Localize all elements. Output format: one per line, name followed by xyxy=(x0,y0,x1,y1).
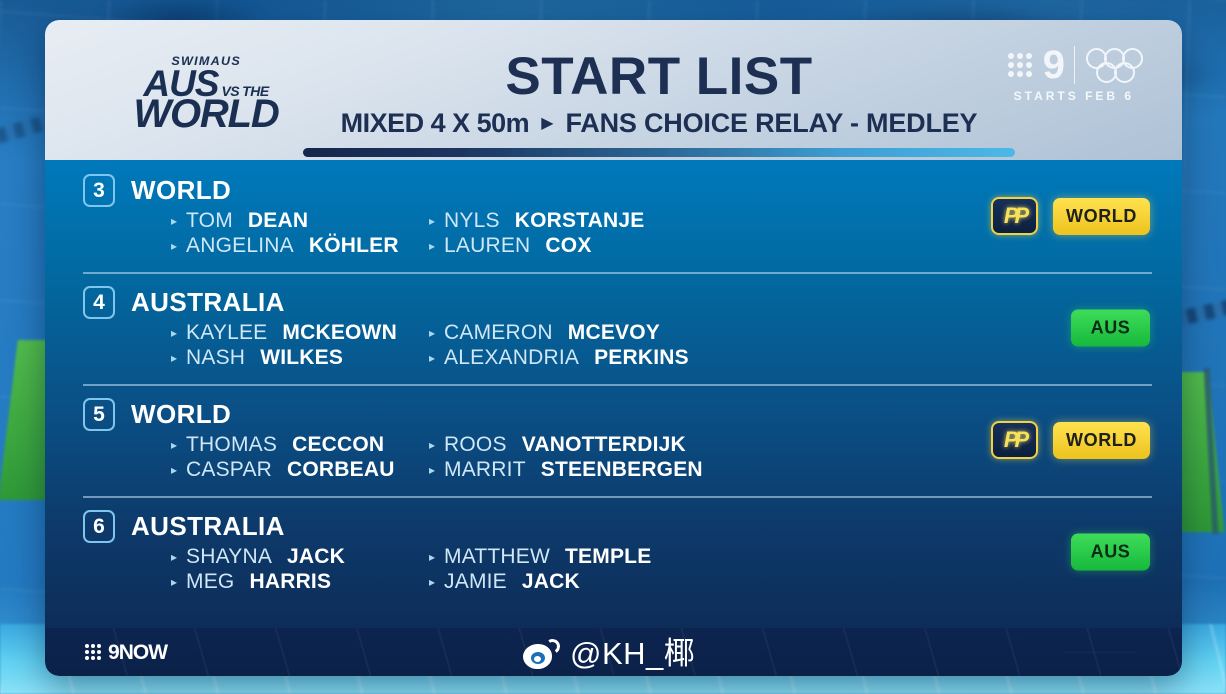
team-row-header: 6 AUSTRALIA xyxy=(83,510,1182,543)
nine-now-dots-icon xyxy=(85,644,101,660)
team-row: 4 AUSTRALIA ▸ KAYLEE MCKEOWN ▸ CAMERON M… xyxy=(45,272,1182,384)
now-text: NOW xyxy=(119,641,167,664)
athlete-grid: ▸ KAYLEE MCKEOWN ▸ CAMERON MCEVOY ▸ NASH… xyxy=(171,321,1182,370)
lane-number: 3 xyxy=(83,174,115,207)
athlete: ▸ ALEXANDRIA PERKINS xyxy=(429,346,1182,370)
athlete-last-name: STEENBERGEN xyxy=(541,458,703,482)
athlete-first-name: CASPAR xyxy=(186,458,272,482)
athlete: ▸ SHAYNA JACK xyxy=(171,545,411,569)
start-list-card: SWIMAUS AUS VS THE WORLD START LIST MIXE… xyxy=(45,20,1182,676)
brand-divider xyxy=(1074,46,1075,84)
team-flag-badge: PP xyxy=(991,421,1038,459)
athlete-first-name: ROOS xyxy=(444,433,507,457)
athlete-first-name: ANGELINA xyxy=(186,234,294,258)
bullet-arrow-icon: ▸ xyxy=(429,576,435,588)
athlete: ▸ MARRIT STEENBERGEN xyxy=(429,458,1182,482)
athlete-last-name: DEAN xyxy=(248,209,308,233)
athlete: ▸ CAMERON MCEVOY xyxy=(429,321,1182,345)
start-list-body: 3 WORLD ▸ TOM DEAN ▸ NYLS KORSTANJE ▸ AN… xyxy=(45,160,1182,628)
athlete-first-name: THOMAS xyxy=(186,433,277,457)
athlete-first-name: TOM xyxy=(186,209,233,233)
athlete: ▸ CASPAR CORBEAU xyxy=(171,458,411,482)
title-block: START LIST MIXED 4 X 50m ▶ FANS CHOICE R… xyxy=(303,50,1015,139)
athlete-last-name: KÖHLER xyxy=(309,234,399,258)
athlete-last-name: VANOTTERDIJK xyxy=(522,433,686,457)
footer-fine-print: ·················· xyxy=(1064,647,1136,657)
channel-nine-glyph: 9 xyxy=(1043,49,1063,82)
screenshot-stage: SWIMAUS AUS VS THE WORLD START LIST MIXE… xyxy=(0,0,1226,694)
team-flag-badge: PP xyxy=(991,197,1038,235)
lane-number: 4 xyxy=(83,286,115,319)
team-name: WORLD xyxy=(131,399,231,430)
athlete-first-name: CAMERON xyxy=(444,321,553,345)
athlete: ▸ MATTHEW TEMPLE xyxy=(429,545,1182,569)
team-row: 3 WORLD ▸ TOM DEAN ▸ NYLS KORSTANJE ▸ AN… xyxy=(45,160,1182,272)
bullet-arrow-icon: ▸ xyxy=(171,240,177,252)
bullet-arrow-icon: ▸ xyxy=(429,327,435,339)
athlete-first-name: NASH xyxy=(186,346,245,370)
athlete-last-name: JACK xyxy=(522,570,580,594)
team-badge: WORLD xyxy=(1053,198,1150,235)
athlete-last-name: JACK xyxy=(287,545,345,569)
broadcaster-brand: 9 STARTS FEB 6 xyxy=(1008,46,1140,103)
athlete-first-name: MEG xyxy=(186,570,234,594)
team-name: AUSTRALIA xyxy=(131,287,285,318)
bullet-arrow-icon: ▸ xyxy=(429,215,435,227)
athlete: ▸ KAYLEE MCKEOWN xyxy=(171,321,411,345)
bullet-arrow-icon: ▸ xyxy=(429,240,435,252)
athlete-first-name: MARRIT xyxy=(444,458,526,482)
bullet-arrow-icon: ▸ xyxy=(429,352,435,364)
team-row: 6 AUSTRALIA ▸ SHAYNA JACK ▸ MATTHEW TEMP… xyxy=(45,496,1182,608)
swimaus-wordmark: SWIMAUS xyxy=(171,54,241,68)
athlete-first-name: KAYLEE xyxy=(186,321,267,345)
world-wordmark: WORLD xyxy=(133,96,278,132)
athlete-last-name: COX xyxy=(545,234,591,258)
bullet-arrow-icon: ▸ xyxy=(171,439,177,451)
flag-monogram: PP xyxy=(1004,429,1025,451)
athlete-last-name: TEMPLE xyxy=(565,545,651,569)
olympic-rings-icon xyxy=(1086,48,1140,83)
aus-vs-world-logo: SWIMAUS AUS VS THE WORLD xyxy=(111,50,301,136)
event-name: FANS CHOICE RELAY - MEDLEY xyxy=(566,108,978,139)
ring xyxy=(1114,62,1135,83)
athlete: ▸ NASH WILKES xyxy=(171,346,411,370)
team-badges: PP WORLD xyxy=(991,197,1150,235)
page-title: START LIST xyxy=(303,50,1015,104)
bullet-arrow-icon: ▸ xyxy=(171,327,177,339)
athlete: ▸ MEG HARRIS xyxy=(171,570,411,594)
athlete-last-name: CECCON xyxy=(292,433,384,457)
bullet-arrow-icon: ▸ xyxy=(429,439,435,451)
team-badge: AUS xyxy=(1071,534,1150,571)
lane-number: 6 xyxy=(83,510,115,543)
athlete: ▸ ANGELINA KÖHLER xyxy=(171,234,411,258)
watermark-handle: @KH_椰 xyxy=(570,638,695,669)
team-rows: 3 WORLD ▸ TOM DEAN ▸ NYLS KORSTANJE ▸ AN… xyxy=(45,160,1182,608)
athlete: ▸ TOM DEAN xyxy=(171,209,411,233)
bullet-arrow-icon: ▸ xyxy=(429,464,435,476)
card-header: SWIMAUS AUS VS THE WORLD START LIST MIXE… xyxy=(45,20,1182,160)
team-name: WORLD xyxy=(131,175,231,206)
event-subtitle: MIXED 4 X 50m ▶ FANS CHOICE RELAY - MEDL… xyxy=(303,108,1015,139)
athlete-last-name: MCEVOY xyxy=(568,321,660,345)
athlete-first-name: JAMIE xyxy=(444,570,507,594)
athlete-first-name: SHAYNA xyxy=(186,545,272,569)
weibo-watermark: @KH_椰 xyxy=(523,638,695,669)
accent-bar xyxy=(303,148,1015,157)
team-badge: AUS xyxy=(1071,310,1150,347)
athlete-first-name: LAUREN xyxy=(444,234,530,258)
arrow-right-icon: ▶ xyxy=(541,116,553,132)
bullet-arrow-icon: ▸ xyxy=(171,576,177,588)
bullet-arrow-icon: ▸ xyxy=(171,551,177,563)
team-badges: AUS xyxy=(1071,310,1150,347)
nine-dots-icon xyxy=(1008,53,1032,77)
event-distance: MIXED 4 X 50m xyxy=(341,108,530,139)
team-badges: PP WORLD xyxy=(991,421,1150,459)
brand-row: 9 xyxy=(1008,46,1140,84)
athlete-last-name: KORSTANJE xyxy=(515,209,645,233)
nine-digit: 9 xyxy=(108,641,119,664)
nine-now-logo[interactable]: 9NOW xyxy=(85,642,167,663)
team-badge: WORLD xyxy=(1053,422,1150,459)
team-row: 5 WORLD ▸ THOMAS CECCON ▸ ROOS VANOTTERD… xyxy=(45,384,1182,496)
athlete: ▸ JAMIE JACK xyxy=(429,570,1182,594)
rings-bottom-row xyxy=(1096,62,1140,83)
athlete-grid: ▸ SHAYNA JACK ▸ MATTHEW TEMPLE ▸ MEG HAR… xyxy=(171,545,1182,594)
athlete-last-name: HARRIS xyxy=(249,570,331,594)
athlete-last-name: CORBEAU xyxy=(287,458,395,482)
team-name: AUSTRALIA xyxy=(131,511,285,542)
lane-number: 5 xyxy=(83,398,115,431)
team-row-header: 4 AUSTRALIA xyxy=(83,286,1182,319)
bullet-arrow-icon: ▸ xyxy=(171,464,177,476)
weibo-icon xyxy=(523,639,561,669)
athlete: ▸ THOMAS CECCON xyxy=(171,433,411,457)
nine-now-text: 9NOW xyxy=(108,642,167,663)
bullet-arrow-icon: ▸ xyxy=(429,551,435,563)
athlete: ▸ LAUREN COX xyxy=(429,234,1182,258)
athlete-first-name: NYLS xyxy=(444,209,500,233)
athlete-first-name: MATTHEW xyxy=(444,545,550,569)
flag-monogram: PP xyxy=(1004,205,1025,227)
bullet-arrow-icon: ▸ xyxy=(171,352,177,364)
bullet-arrow-icon: ▸ xyxy=(171,215,177,227)
team-badges: AUS xyxy=(1071,534,1150,571)
starts-date-label: STARTS FEB 6 xyxy=(1014,89,1134,103)
athlete-first-name: ALEXANDRIA xyxy=(444,346,579,370)
athlete-last-name: MCKEOWN xyxy=(282,321,397,345)
athlete-last-name: PERKINS xyxy=(594,346,689,370)
athlete-last-name: WILKES xyxy=(260,346,343,370)
